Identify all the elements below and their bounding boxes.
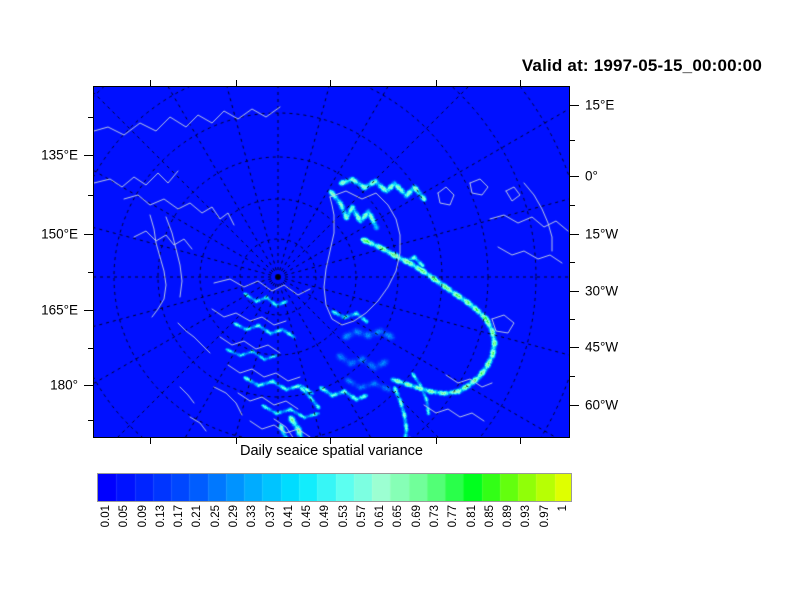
colorbar-tick-label: 0.57 (356, 505, 368, 527)
tick-mark (570, 262, 575, 263)
tick-mark (84, 234, 93, 235)
colorbar-tick-label: 1 (557, 505, 569, 511)
left-axis-label: 150°E (0, 227, 78, 242)
tick-mark (88, 195, 93, 196)
left-axis-label: 180° (0, 378, 78, 393)
colorbar-tick-label: 0.69 (411, 505, 423, 527)
map-panel (93, 86, 570, 438)
colorbar-tick-label: 0.01 (100, 505, 112, 527)
tick-mark (88, 348, 93, 349)
colorbar-tick-label: 0.89 (502, 505, 514, 527)
tick-mark (84, 310, 93, 311)
colorbar-tick-label: 0.29 (228, 505, 240, 527)
tick-mark (570, 234, 579, 235)
tick-mark (570, 319, 575, 320)
colorbar-tick-label: 0.17 (173, 505, 185, 527)
tick-mark (570, 140, 575, 141)
tick-mark (88, 420, 93, 421)
right-axis-label: 15°W (585, 227, 618, 242)
tick-mark (570, 176, 579, 177)
colorbar-tick-label: 0.81 (466, 505, 478, 527)
left-axis-label: 135°E (0, 148, 78, 163)
colorbar-tick-label: 0.25 (210, 505, 222, 527)
colorbar-tick-label: 0.73 (429, 505, 441, 527)
tick-mark (570, 376, 575, 377)
colorbar-tick-label: 0.85 (484, 505, 496, 527)
right-axis-label: 0° (585, 169, 598, 184)
right-axis-label: 15°E (585, 98, 614, 113)
right-axis-label: 45°W (585, 340, 618, 355)
tick-mark (88, 272, 93, 273)
colorbar-tick-label: 0.77 (447, 505, 459, 527)
colorbar-tick-label: 0.97 (539, 505, 551, 527)
colorbar (97, 473, 572, 502)
tick-mark (150, 80, 151, 86)
colorbar-tick-label: 0.53 (338, 505, 350, 527)
colorbar-tick-label: 0.61 (374, 505, 386, 527)
colorbar-tick-label: 0.21 (191, 505, 203, 527)
tick-mark (436, 80, 437, 86)
tick-mark (88, 117, 93, 118)
tick-mark (570, 105, 579, 106)
tick-mark (570, 205, 575, 206)
colorbar-tick-label: 0.37 (265, 505, 277, 527)
colorbar-tick-label: 0.33 (246, 505, 258, 527)
colorbar-tick-label: 0.49 (319, 505, 331, 527)
tick-mark (84, 385, 93, 386)
tick-mark (330, 80, 331, 86)
right-axis-label: 60°W (585, 398, 618, 413)
left-axis-label: 165°E (0, 303, 78, 318)
tick-mark (570, 291, 579, 292)
colorbar-tick-label: 0.93 (520, 505, 532, 527)
axis-caption: Daily seaice spatial variance (93, 443, 570, 459)
tick-mark (236, 80, 237, 86)
colorbar-tick-label: 0.13 (155, 505, 167, 527)
colorbar-tick-label: 0.41 (283, 505, 295, 527)
page-title: Valid at: 1997-05-15_00:00:00 (0, 56, 762, 76)
tick-mark (570, 347, 579, 348)
map-raster (94, 87, 569, 437)
figure-root: Valid at: 1997-05-15_00:00:00 135°E150°E… (0, 0, 792, 612)
colorbar-gradient (98, 474, 572, 502)
tick-mark (84, 155, 93, 156)
colorbar-tick-label: 0.05 (118, 505, 130, 527)
colorbar-tick-label: 0.45 (301, 505, 313, 527)
colorbar-tick-label: 0.65 (392, 505, 404, 527)
tick-mark (570, 405, 579, 406)
tick-mark (520, 80, 521, 86)
colorbar-tick-label: 0.09 (137, 505, 149, 527)
right-axis-label: 30°W (585, 284, 618, 299)
